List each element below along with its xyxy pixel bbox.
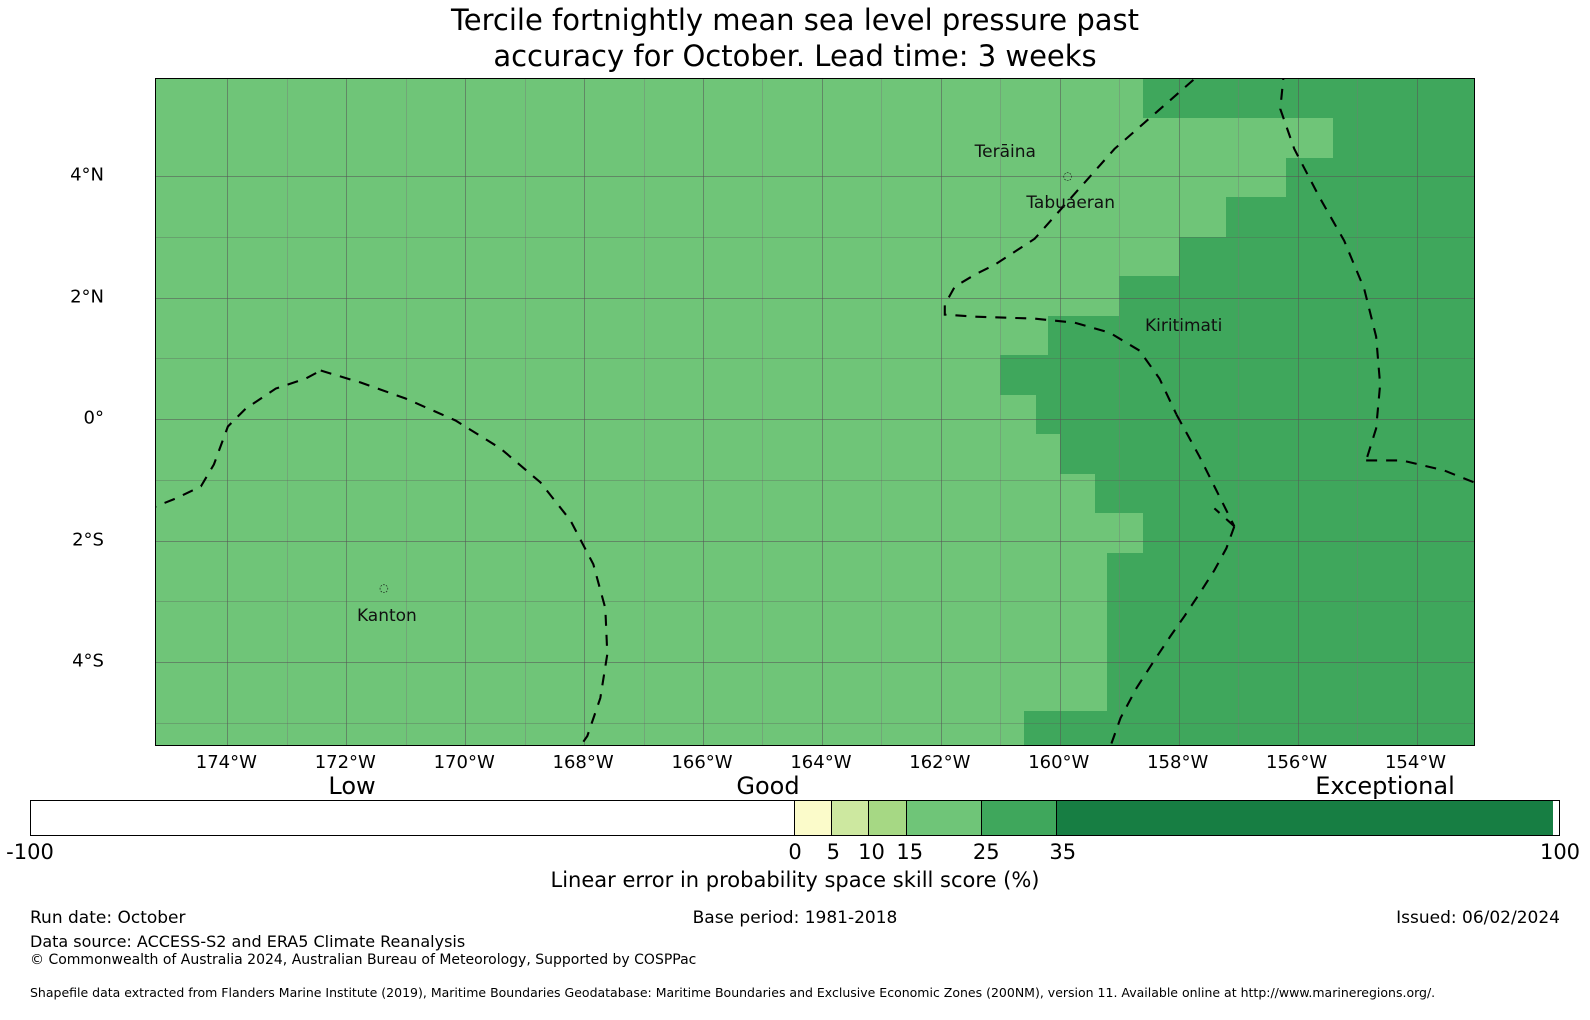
colorbar-tick-label: 35 [1049,840,1076,864]
issued-date: Issued: 06/02/2024 [1396,908,1560,928]
island-marker: ◌ [1063,170,1073,183]
map-plot-area [155,78,1475,746]
colorbar-category-label: Low [328,772,375,800]
colorbar-segment [831,801,869,835]
x-axis-tick-label: 166°W [671,752,732,773]
title-line-1: Tercile fortnightly mean sea level press… [451,3,1139,37]
island-label: Kanton [357,606,417,626]
colorbar-segment [868,801,906,835]
colorbar-tick-label: -100 [6,840,54,864]
colorbar-segment [981,801,1057,835]
colorbar-category-label: Good [736,772,799,800]
colorbar-tick-label: 5 [827,840,840,864]
x-axis-tick-label: 174°W [196,752,257,773]
x-axis-tick-label: 164°W [790,752,851,773]
island-label: Terāina [975,142,1036,162]
y-axis-tick-label: 4°S [72,650,104,671]
title-line-2: accuracy for October. Lead time: 3 weeks [0,38,1590,74]
copyright-notice: © Commonwealth of Australia 2024, Austra… [30,952,696,968]
x-axis-tick-label: 172°W [315,752,376,773]
colorbar-segment [31,801,795,835]
x-axis-tick-label: 170°W [434,752,495,773]
x-axis-tick-label: 160°W [1028,752,1089,773]
x-axis-tick-label: 168°W [553,752,614,773]
base-period: Base period: 1981-2018 [0,908,1590,928]
island-label: Tabuaeran [1026,193,1115,213]
y-axis-tick-label: 4°N [70,165,104,186]
x-axis-tick-label: 158°W [1147,752,1208,773]
colorbar-tick-label: 25 [973,840,1000,864]
colorbar-tick-label: 10 [858,840,885,864]
y-axis-tick-label: 2°N [70,286,104,307]
data-source: Data source: ACCESS-S2 and ERA5 Climate … [30,932,465,951]
y-axis-tick-label: 0° [84,408,104,429]
figure: Tercile fortnightly mean sea level press… [0,0,1590,1020]
colorbar-tick-label: 100 [1540,840,1580,864]
colorbar-segment [1056,801,1553,835]
eez-boundary-lines [156,79,1474,746]
y-axis-tick-label: 2°S [72,529,104,550]
x-axis-tick-label: 154°W [1385,752,1446,773]
x-axis-tick-label: 156°W [1266,752,1327,773]
colorbar-segment [906,801,982,835]
colorbar-segment [794,801,832,835]
colorbar-axis-label: Linear error in probability space skill … [0,868,1590,892]
page-title: Tercile fortnightly mean sea level press… [0,2,1590,74]
x-axis-tick-label: 162°W [909,752,970,773]
shapefile-attribution: Shapefile data extracted from Flanders M… [30,985,1435,1000]
island-label: Kiritimati [1145,316,1222,336]
colorbar-tick-label: 15 [896,840,923,864]
colorbar-tick-label: 0 [788,840,801,864]
colorbar-category-label: Exceptional [1315,772,1455,800]
colorbar [30,800,1560,836]
island-marker: ◌ [379,582,389,595]
